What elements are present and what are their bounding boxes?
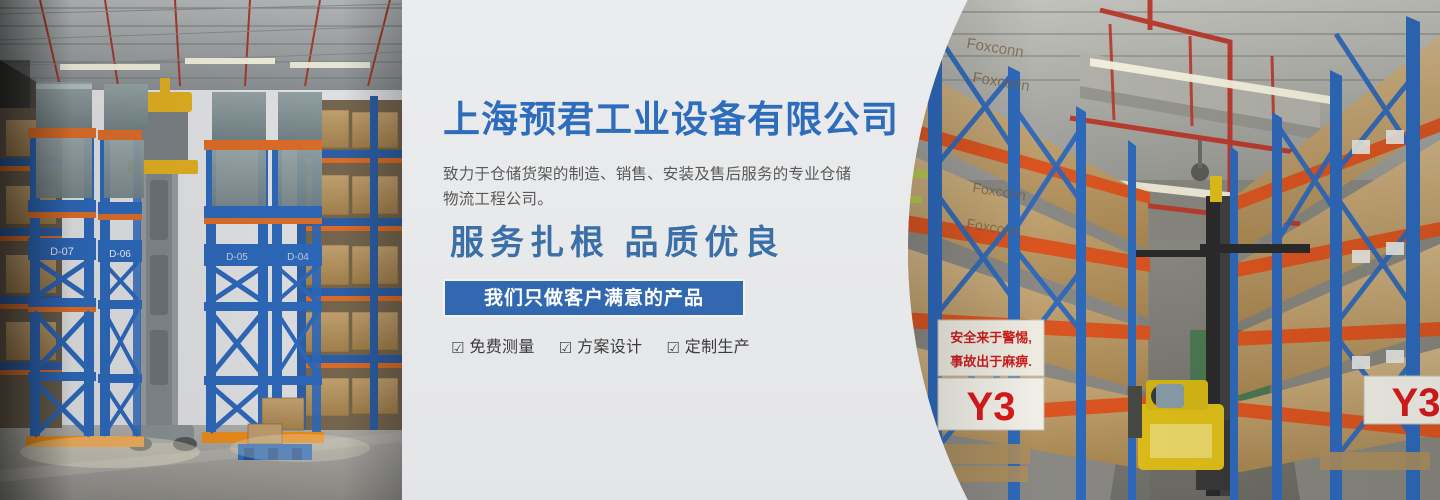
- feature-label: 免费测量: [469, 340, 534, 356]
- feature-item: ☑ 免费测量: [451, 340, 535, 356]
- feature-list: ☑ 免费测量 ☑ 方案设计 ☑ 定制生产: [451, 340, 750, 356]
- checkbox-icon: ☑: [666, 341, 679, 356]
- feature-item: ☑ 定制生产: [666, 340, 750, 356]
- checkbox-icon: ☑: [559, 341, 572, 356]
- company-title: 上海预君工业设备有限公司: [443, 101, 899, 138]
- company-subtitle: 致力于仓储货架的制造、销售、安装及售后服务的专业仓储物流工程公司。: [443, 162, 861, 212]
- right-warehouse-photo: Foxconn Foxconn Foxconn Foxconn: [900, 0, 1440, 500]
- feature-label: 方案设计: [577, 340, 642, 356]
- hero-banner: D-07: [0, 0, 1440, 500]
- feature-item: ☑ 方案设计: [559, 340, 643, 356]
- banner-content: 上海预君工业设备有限公司 致力于仓储货架的制造、销售、安装及售后服务的专业仓储物…: [443, 0, 913, 500]
- left-warehouse-photo: D-07: [0, 0, 402, 500]
- cta-button-label: 我们只做客户满意的产品: [484, 289, 704, 308]
- cta-button[interactable]: 我们只做客户满意的产品: [443, 279, 745, 317]
- company-slogan: 服务扎根 品质优良: [450, 227, 785, 261]
- checkbox-icon: ☑: [451, 341, 464, 356]
- feature-label: 定制生产: [685, 340, 750, 356]
